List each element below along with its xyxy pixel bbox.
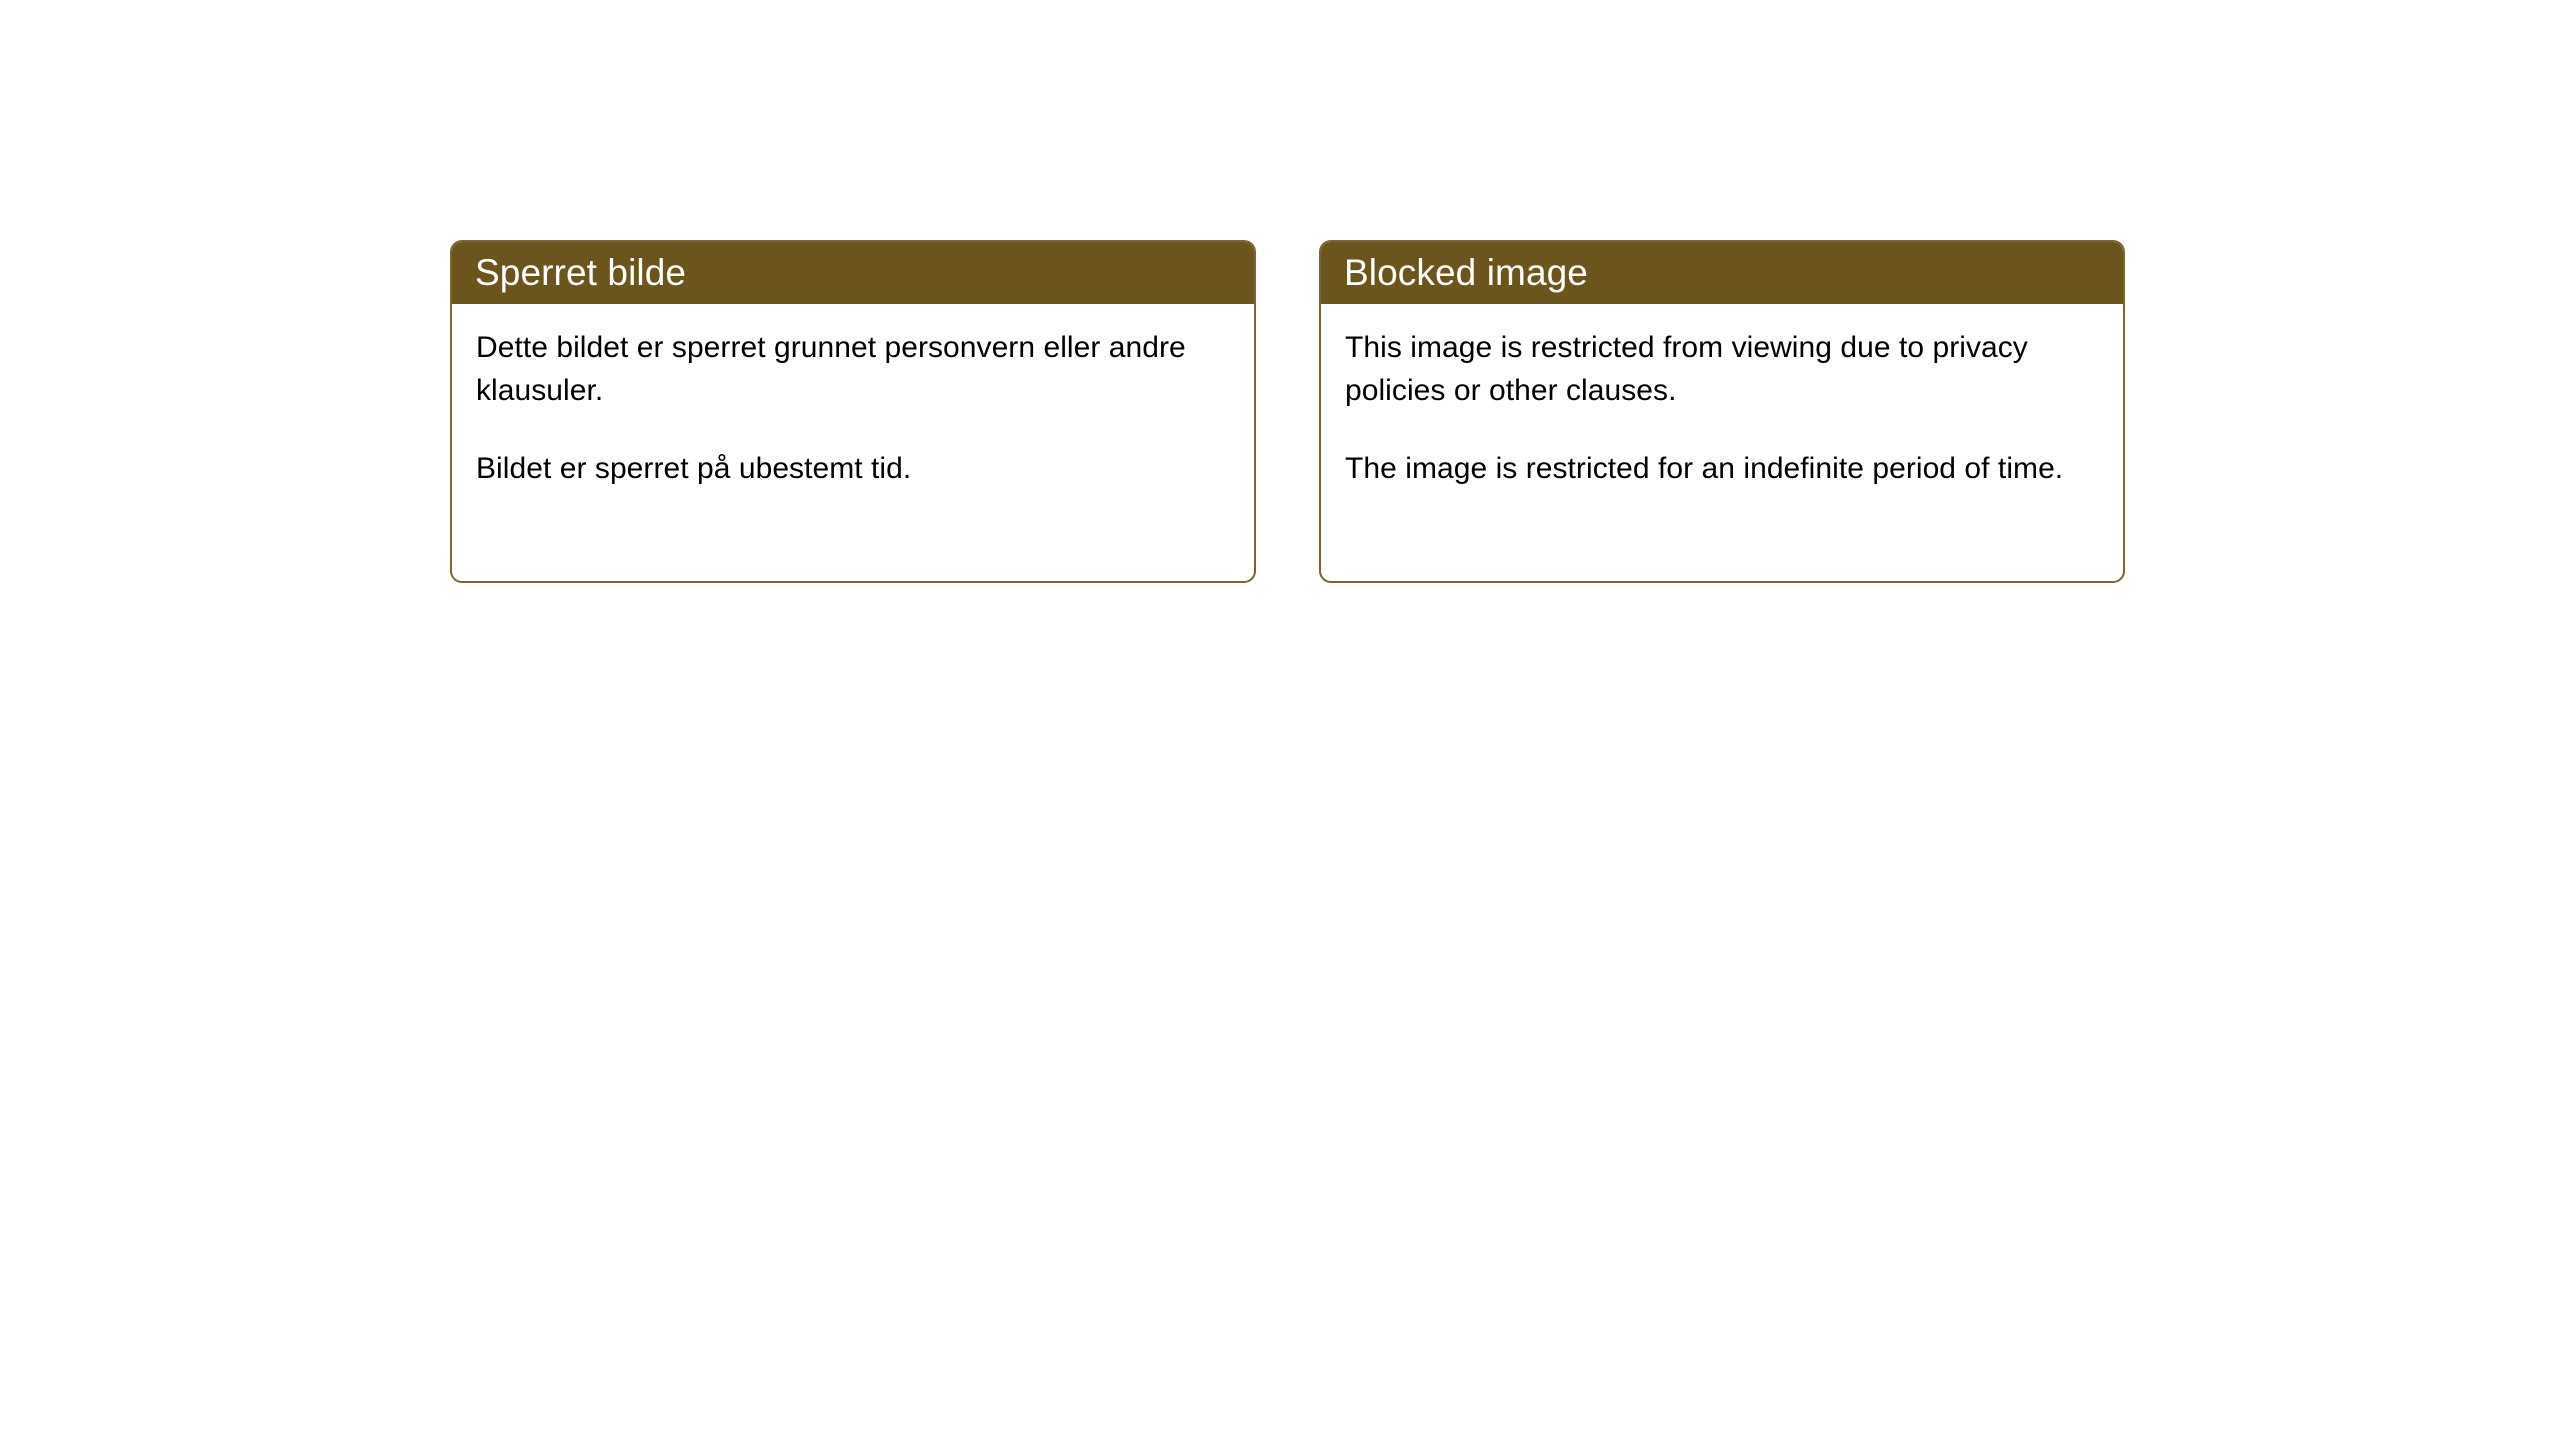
- blocked-image-card-english: Blocked image This image is restricted f…: [1319, 240, 2125, 583]
- card-paragraph-reason-norwegian: Dette bildet er sperret grunnet personve…: [476, 326, 1232, 412]
- blocked-image-notice-group: Sperret bilde Dette bildet er sperret gr…: [450, 240, 2125, 583]
- card-paragraph-reason-english: This image is restricted from viewing du…: [1345, 326, 2101, 412]
- card-paragraph-duration-norwegian: Bildet er sperret på ubestemt tid.: [476, 447, 1232, 490]
- card-title-english: Blocked image: [1344, 251, 1588, 295]
- card-header-norwegian: Sperret bilde: [452, 242, 1254, 304]
- blocked-image-card-norwegian: Sperret bilde Dette bildet er sperret gr…: [450, 240, 1256, 583]
- card-title-norwegian: Sperret bilde: [475, 251, 686, 295]
- card-body-english: This image is restricted from viewing du…: [1321, 304, 2123, 581]
- page-root: Sperret bilde Dette bildet er sperret gr…: [0, 0, 2560, 1440]
- card-paragraph-duration-english: The image is restricted for an indefinit…: [1345, 447, 2101, 490]
- card-header-english: Blocked image: [1321, 242, 2123, 304]
- card-body-norwegian: Dette bildet er sperret grunnet personve…: [452, 304, 1254, 581]
